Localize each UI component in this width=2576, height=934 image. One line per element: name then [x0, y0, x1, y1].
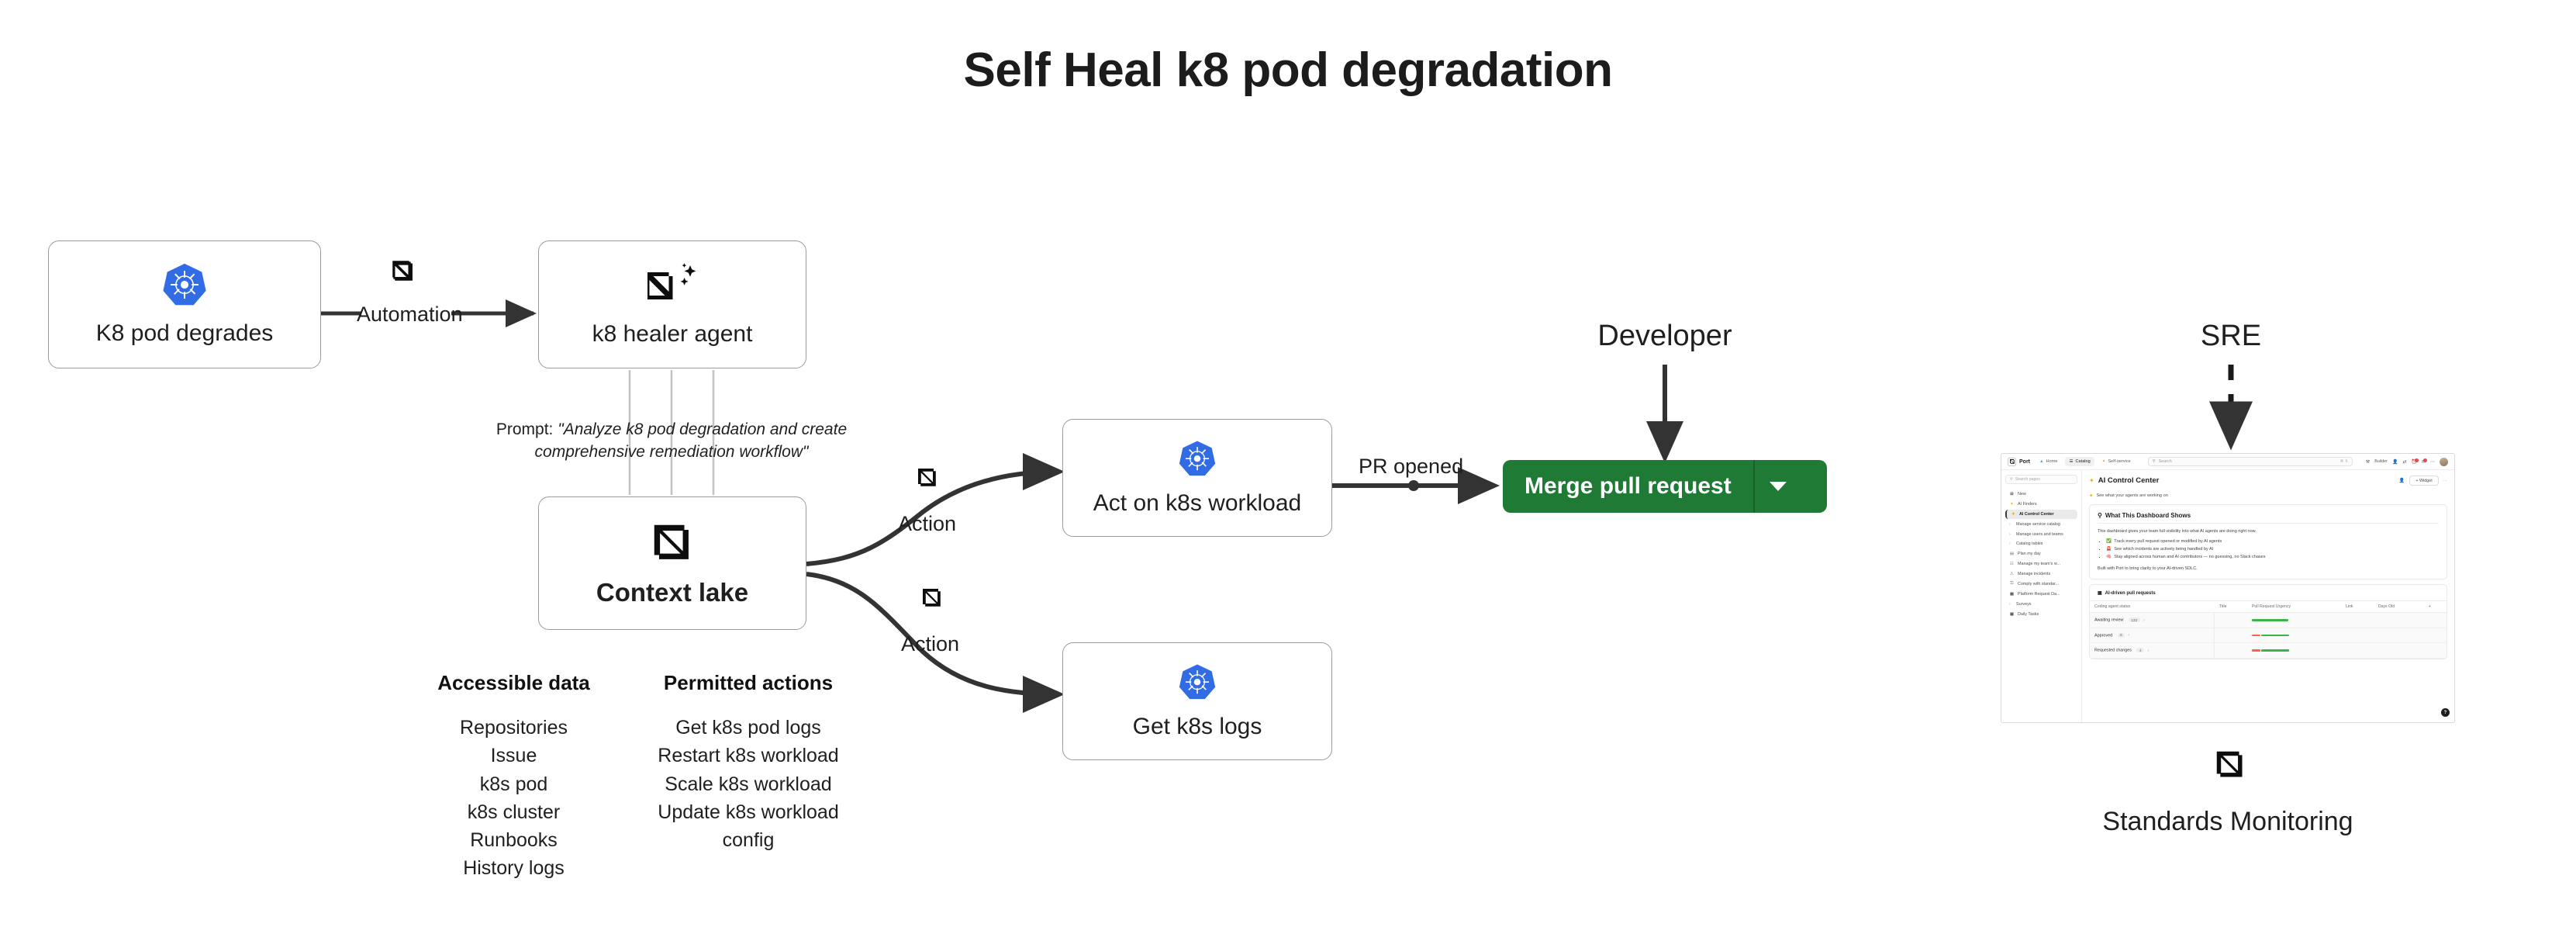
sidebar-item-label: Manage users and teams — [2016, 532, 2063, 537]
chevron-right-icon: › — [2009, 522, 2013, 527]
list-item: 🚨 See which incidents are actively being… — [2106, 546, 2439, 554]
kubernetes-icon — [161, 261, 209, 310]
chevron-right-icon[interactable]: › — [2129, 633, 2130, 638]
cell-link — [2341, 613, 2374, 628]
node-act-on-k8s-workload[interactable]: Act on k8s workload — [1062, 419, 1332, 537]
spark-icon: ✦ — [2089, 493, 2093, 499]
cell-days-old — [2374, 628, 2424, 643]
chevron-right-icon[interactable]: › — [2148, 649, 2150, 653]
status-label: Approved — [2094, 633, 2112, 638]
dashboard-nav: ▲ Home ☰ Catalog ✦ Self-service — [2036, 457, 2135, 466]
permitted-actions-column: Permitted actions Get k8s pod logs Resta… — [644, 671, 853, 854]
sidebar-item-label: New — [2018, 492, 2026, 496]
sidebar-item-platform-request-dashboard[interactable]: ▦ Platform Request Da... — [2005, 590, 2077, 600]
sidebar-item-daily-tasks[interactable]: ▦ Daily Tasks — [2005, 609, 2077, 619]
alerts-icon[interactable]: ⏰ — [2411, 459, 2416, 465]
card-heading-text: What This Dashboard Shows — [2105, 512, 2191, 519]
merge-pull-request-button[interactable]: Merge pull request — [1503, 460, 1827, 513]
sidebar-item-label: Platform Request Da... — [2018, 592, 2060, 597]
bar-green — [2261, 635, 2289, 637]
sidebar-item-label: Surveys — [2016, 602, 2031, 607]
dashboard-sidebar: ⚲ Search pages ⊞ New ✦ AI Finders ✦ AI C… — [2001, 470, 2082, 722]
node-label: Get k8s logs — [1133, 714, 1262, 741]
chevron-right-icon: › — [2009, 541, 2013, 546]
kubernetes-icon — [1177, 662, 1217, 703]
cell-urgency — [2247, 643, 2341, 659]
list-item: Repositories — [434, 714, 593, 742]
column-header-title[interactable]: Title — [2215, 601, 2247, 613]
bullet-text: See which incidents are actively being h… — [2114, 547, 2213, 552]
node-k8-pod-degrades[interactable]: K8 pod degrades — [48, 240, 321, 368]
prompt-text: Prompt: "Analyze k8 pod degradation and … — [470, 419, 873, 464]
shortcut-key: K — [2345, 459, 2347, 464]
sidebar-item-comply-with-standards[interactable]: ⚿ Comply with standar... — [2005, 579, 2077, 590]
nav-item-catalog[interactable]: ☰ Catalog — [2065, 457, 2094, 466]
cell-link — [2341, 628, 2374, 643]
grid-icon: ▦ — [2009, 592, 2015, 597]
port-glyph-icon — [915, 465, 940, 494]
table-header: Coding agent status Title Pull Request U… — [2090, 601, 2447, 613]
nav-item-self-service[interactable]: ✦ Self-service — [2098, 457, 2135, 466]
builder-icon[interactable]: ⚒ — [2366, 459, 2370, 465]
cell-link — [2341, 643, 2374, 659]
cell-spacer — [2424, 643, 2447, 659]
dashboard-header-actions: 👤 + Widget ⋯ — [2399, 476, 2447, 486]
sidebar-item-ai-finders[interactable]: ✦ AI Finders — [2005, 500, 2077, 510]
help-button[interactable]: ? — [2441, 708, 2450, 717]
shortcut-key: ⌘ — [2339, 459, 2343, 464]
node-get-k8s-logs[interactable]: Get k8s logs — [1062, 642, 1332, 760]
table-row[interactable]: Awaiting review 133 › — [2090, 613, 2447, 628]
edge-label-pr-opened: PR opened — [1359, 455, 1463, 479]
cell-status: Approved 6 › — [2090, 628, 2215, 643]
dashboard-main: ✦ AI Control Center 👤 + Widget ⋯ ✦ See w… — [2082, 470, 2454, 722]
prompt-prefix: Prompt: — [496, 420, 554, 438]
status-label: Requested changes — [2094, 649, 2132, 653]
nav-label: Home — [2046, 459, 2058, 464]
search-icon: ⚲ — [2153, 459, 2156, 464]
column-header-pull-request-urgency[interactable]: Pull Request Urgency — [2247, 601, 2341, 613]
node-label: Act on k8s workload — [1093, 490, 1301, 517]
port-glyph-icon — [389, 258, 416, 288]
card-footer: Built with Port to bring clarity to your… — [2098, 566, 2439, 572]
bullet-text: Stay aligned across human and AI contrib… — [2114, 555, 2265, 559]
siren-emoji-icon: 🚨 — [2106, 547, 2112, 552]
cell-spacer — [2424, 628, 2447, 643]
sidebar-item-manage-my-teams-work[interactable]: ☷ Manage my team's w... — [2005, 559, 2077, 569]
more-icon[interactable]: ⋯ — [2430, 459, 2435, 465]
sidebar-item-surveys[interactable]: › Surveys — [2005, 600, 2077, 610]
cell-title — [2215, 613, 2247, 628]
table-body: Awaiting review 133 › — [2090, 613, 2447, 659]
port-glyph-icon — [2008, 458, 2016, 466]
incident-icon: ⚠ — [2009, 572, 2015, 576]
column-header-link[interactable]: Link — [2341, 601, 2374, 613]
list-item: 🧠 Stay aligned across human and AI contr… — [2106, 554, 2439, 562]
chevron-right-icon: › — [2009, 602, 2013, 607]
dashboard-page-title: AI Control Center — [2098, 476, 2160, 485]
column-header-days-old[interactable]: Days Old — [2374, 601, 2424, 613]
list-item: ✅ Track every pull request opened or mod… — [2106, 538, 2439, 546]
spark-icon: ✦ — [2011, 512, 2016, 517]
brand-name: Port — [2019, 459, 2030, 465]
notifications-badge — [2423, 458, 2427, 462]
port-glyph-icon — [2212, 747, 2248, 787]
list-item: Restart k8s workload — [644, 742, 853, 770]
search-icon: ⚲ — [2010, 477, 2013, 482]
sidebar-item-label: Manage my team's w... — [2018, 562, 2060, 566]
cell-days-old — [2374, 643, 2424, 659]
status-count: 6 — [2118, 633, 2125, 638]
table-card-title-text: AI-driven pull requests — [2105, 591, 2156, 596]
node-context-lake[interactable]: Context lake — [538, 496, 806, 630]
page-title: Self Heal k8 pod degradation — [0, 43, 2576, 98]
persona-developer: Developer — [1587, 320, 1742, 353]
sidebar-item-label: Catalog tables — [2016, 541, 2042, 546]
avatar[interactable] — [2440, 458, 2448, 466]
accessible-data-column: Accessible data Repositories Issue k8s p… — [434, 671, 593, 883]
dashboard-body: ⚲ Search pages ⊞ New ✦ AI Finders ✦ AI C… — [2001, 470, 2454, 722]
chevron-right-icon[interactable]: › — [2143, 618, 2145, 623]
sidebar-item-new[interactable]: ⊞ New — [2005, 489, 2077, 500]
kubernetes-icon — [1177, 439, 1217, 479]
team-icon: ☷ — [2009, 562, 2015, 566]
node-k8-healer-agent[interactable]: k8 healer agent — [538, 240, 806, 368]
spark-icon: ✦ — [2009, 502, 2015, 507]
list-icon: ☰ — [2069, 459, 2073, 464]
list-item: k8s pod — [434, 770, 593, 798]
add-widget-button[interactable]: + Widget — [2409, 476, 2438, 486]
invite-user-icon[interactable]: 👤 — [2392, 459, 2398, 465]
sidebar-item-manage-service-catalog[interactable]: › Manage service catalog — [2005, 519, 2077, 529]
sidebar-item-manage-incidents[interactable]: ⚠ Manage incidents — [2005, 569, 2077, 579]
cell-spacer — [2424, 613, 2447, 628]
sidebar-item-manage-users-and-teams[interactable]: › Manage users and teams — [2005, 529, 2077, 539]
bar-red — [2252, 635, 2260, 637]
node-label: K8 pod degrades — [96, 320, 274, 348]
table-row[interactable]: Requested changes 4 › — [2090, 643, 2447, 659]
spark-icon: ✦ — [2102, 459, 2106, 464]
table-icon: ▦ — [2098, 590, 2102, 596]
notifications-icon[interactable]: ✉ — [2422, 459, 2426, 465]
search-placeholder: Search — [2159, 459, 2172, 464]
urgency-bar — [2252, 619, 2336, 621]
sidebar-search-placeholder: Search pages — [2015, 477, 2040, 482]
cell-title — [2215, 628, 2247, 643]
integrations-icon[interactable]: ⇄ — [2402, 459, 2406, 465]
more-icon[interactable]: ⋯ — [2443, 479, 2447, 483]
cell-urgency — [2247, 628, 2341, 643]
cell-status: Awaiting review 133 › — [2090, 613, 2215, 628]
accessible-data-heading: Accessible data — [434, 671, 593, 695]
dashboard-top-actions: ⚒ Builder 👤 ⇄ ⏰ ✉ ⋯ — [2366, 458, 2448, 466]
sidebar-item-ai-control-center[interactable]: ✦ AI Control Center — [2005, 510, 2077, 520]
chevron-down-icon — [1770, 482, 1787, 491]
sidebar-item-label: Daily Tasks — [2018, 612, 2039, 617]
home-icon: ▲ — [2039, 459, 2044, 464]
alerts-badge — [2415, 458, 2419, 462]
cell-urgency — [2247, 613, 2341, 628]
sidebar-item-label: Comply with standar... — [2018, 582, 2059, 586]
plus-square-icon: ⊞ — [2009, 492, 2015, 496]
list-item: Runbooks — [434, 826, 593, 854]
edge-label-action-bottom: Action — [901, 632, 959, 656]
cell-status: Requested changes 4 › — [2090, 643, 2215, 659]
table-header-row: Coding agent status Title Pull Request U… — [2090, 601, 2447, 613]
bar-green — [2261, 649, 2289, 652]
sidebar-search-input[interactable]: ⚲ Search pages — [2005, 475, 2077, 484]
list-item: Scale k8s workload — [644, 770, 853, 798]
cell-days-old — [2374, 613, 2424, 628]
grid-icon: ▦ — [2009, 612, 2015, 617]
permitted-actions-list: Get k8s pod logs Restart k8s workload Sc… — [644, 714, 853, 854]
check-emoji-icon: ✅ — [2106, 539, 2112, 544]
merge-dropdown-button[interactable] — [1755, 460, 1801, 513]
add-column-button[interactable]: + — [2424, 601, 2447, 613]
magnifier-icon: ⚲ — [2098, 512, 2102, 519]
list-item: Get k8s pod logs — [644, 714, 853, 742]
bar-green — [2252, 619, 2288, 621]
port-agent-sparkle-icon — [644, 261, 701, 310]
calendar-icon: ▤ — [2009, 552, 2015, 556]
nav-item-home[interactable]: ▲ Home — [2036, 457, 2061, 466]
card-intro: This dashboard gives your team full visi… — [2098, 528, 2439, 534]
cell-title — [2215, 643, 2247, 659]
node-label: Context lake — [596, 578, 748, 607]
global-search-input[interactable]: ⚲ Search ⌘ K — [2148, 457, 2353, 466]
status-count: 4 — [2136, 648, 2144, 652]
nav-label: Catalog — [2075, 459, 2090, 464]
sidebar-item-label: AI Control Center — [2019, 512, 2054, 517]
port-logo[interactable]: Port — [2008, 458, 2030, 466]
prompt-quote: "Analyze k8 pod degradation and create c… — [535, 420, 848, 461]
search-shortcut: ⌘ K — [2339, 459, 2347, 464]
chevron-right-icon: › — [2009, 532, 2013, 537]
accessible-data-list: Repositories Issue k8s pod k8s cluster R… — [434, 714, 593, 883]
sidebar-item-label: Plan my day — [2018, 552, 2041, 556]
dashboard-subtitle: ✦ See what your agents are working on — [2089, 493, 2447, 499]
what-this-dashboard-shows-card: ⚲ What This Dashboard Shows This dashboa… — [2089, 504, 2447, 579]
urgency-bar — [2252, 635, 2336, 637]
sidebar-item-label: Manage incidents — [2018, 572, 2050, 576]
dashboard-page-header: ✦ AI Control Center 👤 + Widget ⋯ — [2089, 476, 2447, 486]
dashboard-topbar: Port ▲ Home ☰ Catalog ✦ Self-service ⚲ S… — [2001, 454, 2454, 470]
ai-driven-pull-requests-card: ▦ AI-driven pull requests Coding agent s… — [2089, 584, 2447, 659]
status-count: 133 — [2129, 617, 2140, 622]
persona-sre: SRE — [2153, 320, 2308, 353]
bar-red — [2252, 649, 2260, 652]
bullet-text: Track every pull request opened or modif… — [2114, 539, 2222, 544]
edge-label-automation: Automation — [357, 303, 463, 327]
node-label: k8 healer agent — [592, 321, 753, 348]
spark-icon: ✦ — [2089, 477, 2094, 484]
permitted-actions-heading: Permitted actions — [644, 671, 853, 695]
port-glyph-icon — [648, 519, 696, 567]
list-item: k8s cluster — [434, 798, 593, 826]
nav-label: Self-service — [2108, 459, 2130, 464]
list-item: Issue — [434, 742, 593, 770]
merge-button-label[interactable]: Merge pull request — [1503, 460, 1753, 513]
list-item: History logs — [434, 854, 593, 882]
shield-icon: ⚿ — [2009, 581, 2015, 586]
urgency-bar — [2252, 649, 2336, 652]
table-card-title: ▦ AI-driven pull requests — [2090, 585, 2447, 600]
subtitle-text: See what your agents are working on — [2096, 493, 2167, 498]
sidebar-item-plan-my-day[interactable]: ▤ Plan my day — [2005, 549, 2077, 559]
standards-monitoring-caption: Standards Monitoring — [2001, 807, 2455, 837]
brain-emoji-icon: 🧠 — [2106, 555, 2112, 559]
sidebar-item-label: AI Finders — [2018, 502, 2037, 507]
card-bullet-list: ✅ Track every pull request opened or mod… — [2106, 538, 2439, 561]
builder-label[interactable]: Builder — [2374, 459, 2388, 464]
share-icon[interactable]: 👤 — [2399, 478, 2405, 483]
list-item: Update k8s workload config — [644, 798, 853, 855]
sidebar-item-label: Manage service catalog — [2016, 522, 2060, 527]
pull-requests-table: Coding agent status Title Pull Request U… — [2090, 600, 2447, 659]
port-dashboard-screenshot[interactable]: Port ▲ Home ☰ Catalog ✦ Self-service ⚲ S… — [2001, 453, 2455, 723]
edge-label-action-top: Action — [898, 512, 956, 536]
sidebar-item-catalog-tables[interactable]: › Catalog tables — [2005, 539, 2077, 549]
card-heading: ⚲ What This Dashboard Shows — [2098, 512, 2439, 524]
column-header-coding-agent-status[interactable]: Coding agent status — [2090, 601, 2215, 613]
table-row[interactable]: Approved 6 › — [2090, 628, 2447, 643]
status-label: Awaiting review — [2094, 618, 2123, 623]
port-glyph-icon — [920, 586, 944, 614]
